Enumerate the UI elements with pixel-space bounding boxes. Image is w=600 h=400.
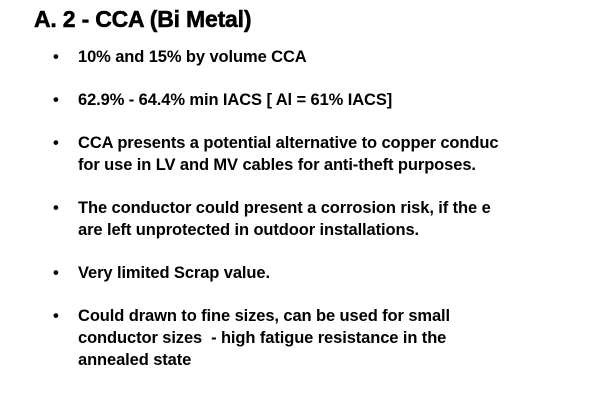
bullet-text-line: conductor sizes - high fatigue resistanc… bbox=[78, 327, 600, 349]
bullet-text-line: Very limited Scrap value. bbox=[78, 262, 600, 284]
bullet-text-line: for use in LV and MV cables for anti-the… bbox=[78, 154, 600, 176]
list-item: • Could drawn to fine sizes, can be used… bbox=[0, 305, 600, 371]
bullet-text-line: Could drawn to fine sizes, can be used f… bbox=[78, 305, 600, 327]
bullet-dot-icon: • bbox=[53, 46, 65, 68]
bullet-dot-icon: • bbox=[53, 89, 65, 111]
bullet-dot-icon: • bbox=[53, 305, 65, 327]
list-item: • 62.9% - 64.4% min IACS [ Al = 61% IACS… bbox=[0, 89, 600, 111]
bullet-dot-icon: • bbox=[53, 197, 65, 219]
bullet-list: • 10% and 15% by volume CCA • 62.9% - 64… bbox=[0, 46, 600, 371]
page-title: A. 2 - CCA (Bi Metal) bbox=[34, 6, 251, 32]
bullet-text-line: The conductor could present a corrosion … bbox=[78, 197, 600, 219]
bullet-dot-icon: • bbox=[53, 262, 65, 284]
list-item: • CCA presents a potential alternative t… bbox=[0, 132, 600, 176]
list-item: • The conductor could present a corrosio… bbox=[0, 197, 600, 241]
list-item: • 10% and 15% by volume CCA bbox=[0, 46, 600, 68]
list-item: • Very limited Scrap value. bbox=[0, 262, 600, 284]
bullet-text-line: CCA presents a potential alternative to … bbox=[78, 132, 600, 154]
bullet-text-line: annealed state bbox=[78, 349, 600, 371]
bullet-text-line: 62.9% - 64.4% min IACS [ Al = 61% IACS] bbox=[78, 89, 600, 111]
bullet-text-line: 10% and 15% by volume CCA bbox=[78, 46, 600, 68]
bullet-text-line: are left unprotected in outdoor installa… bbox=[78, 219, 600, 241]
bullet-dot-icon: • bbox=[53, 132, 65, 154]
slide-canvas: A. 2 - CCA (Bi Metal) • 10% and 15% by v… bbox=[0, 0, 600, 400]
